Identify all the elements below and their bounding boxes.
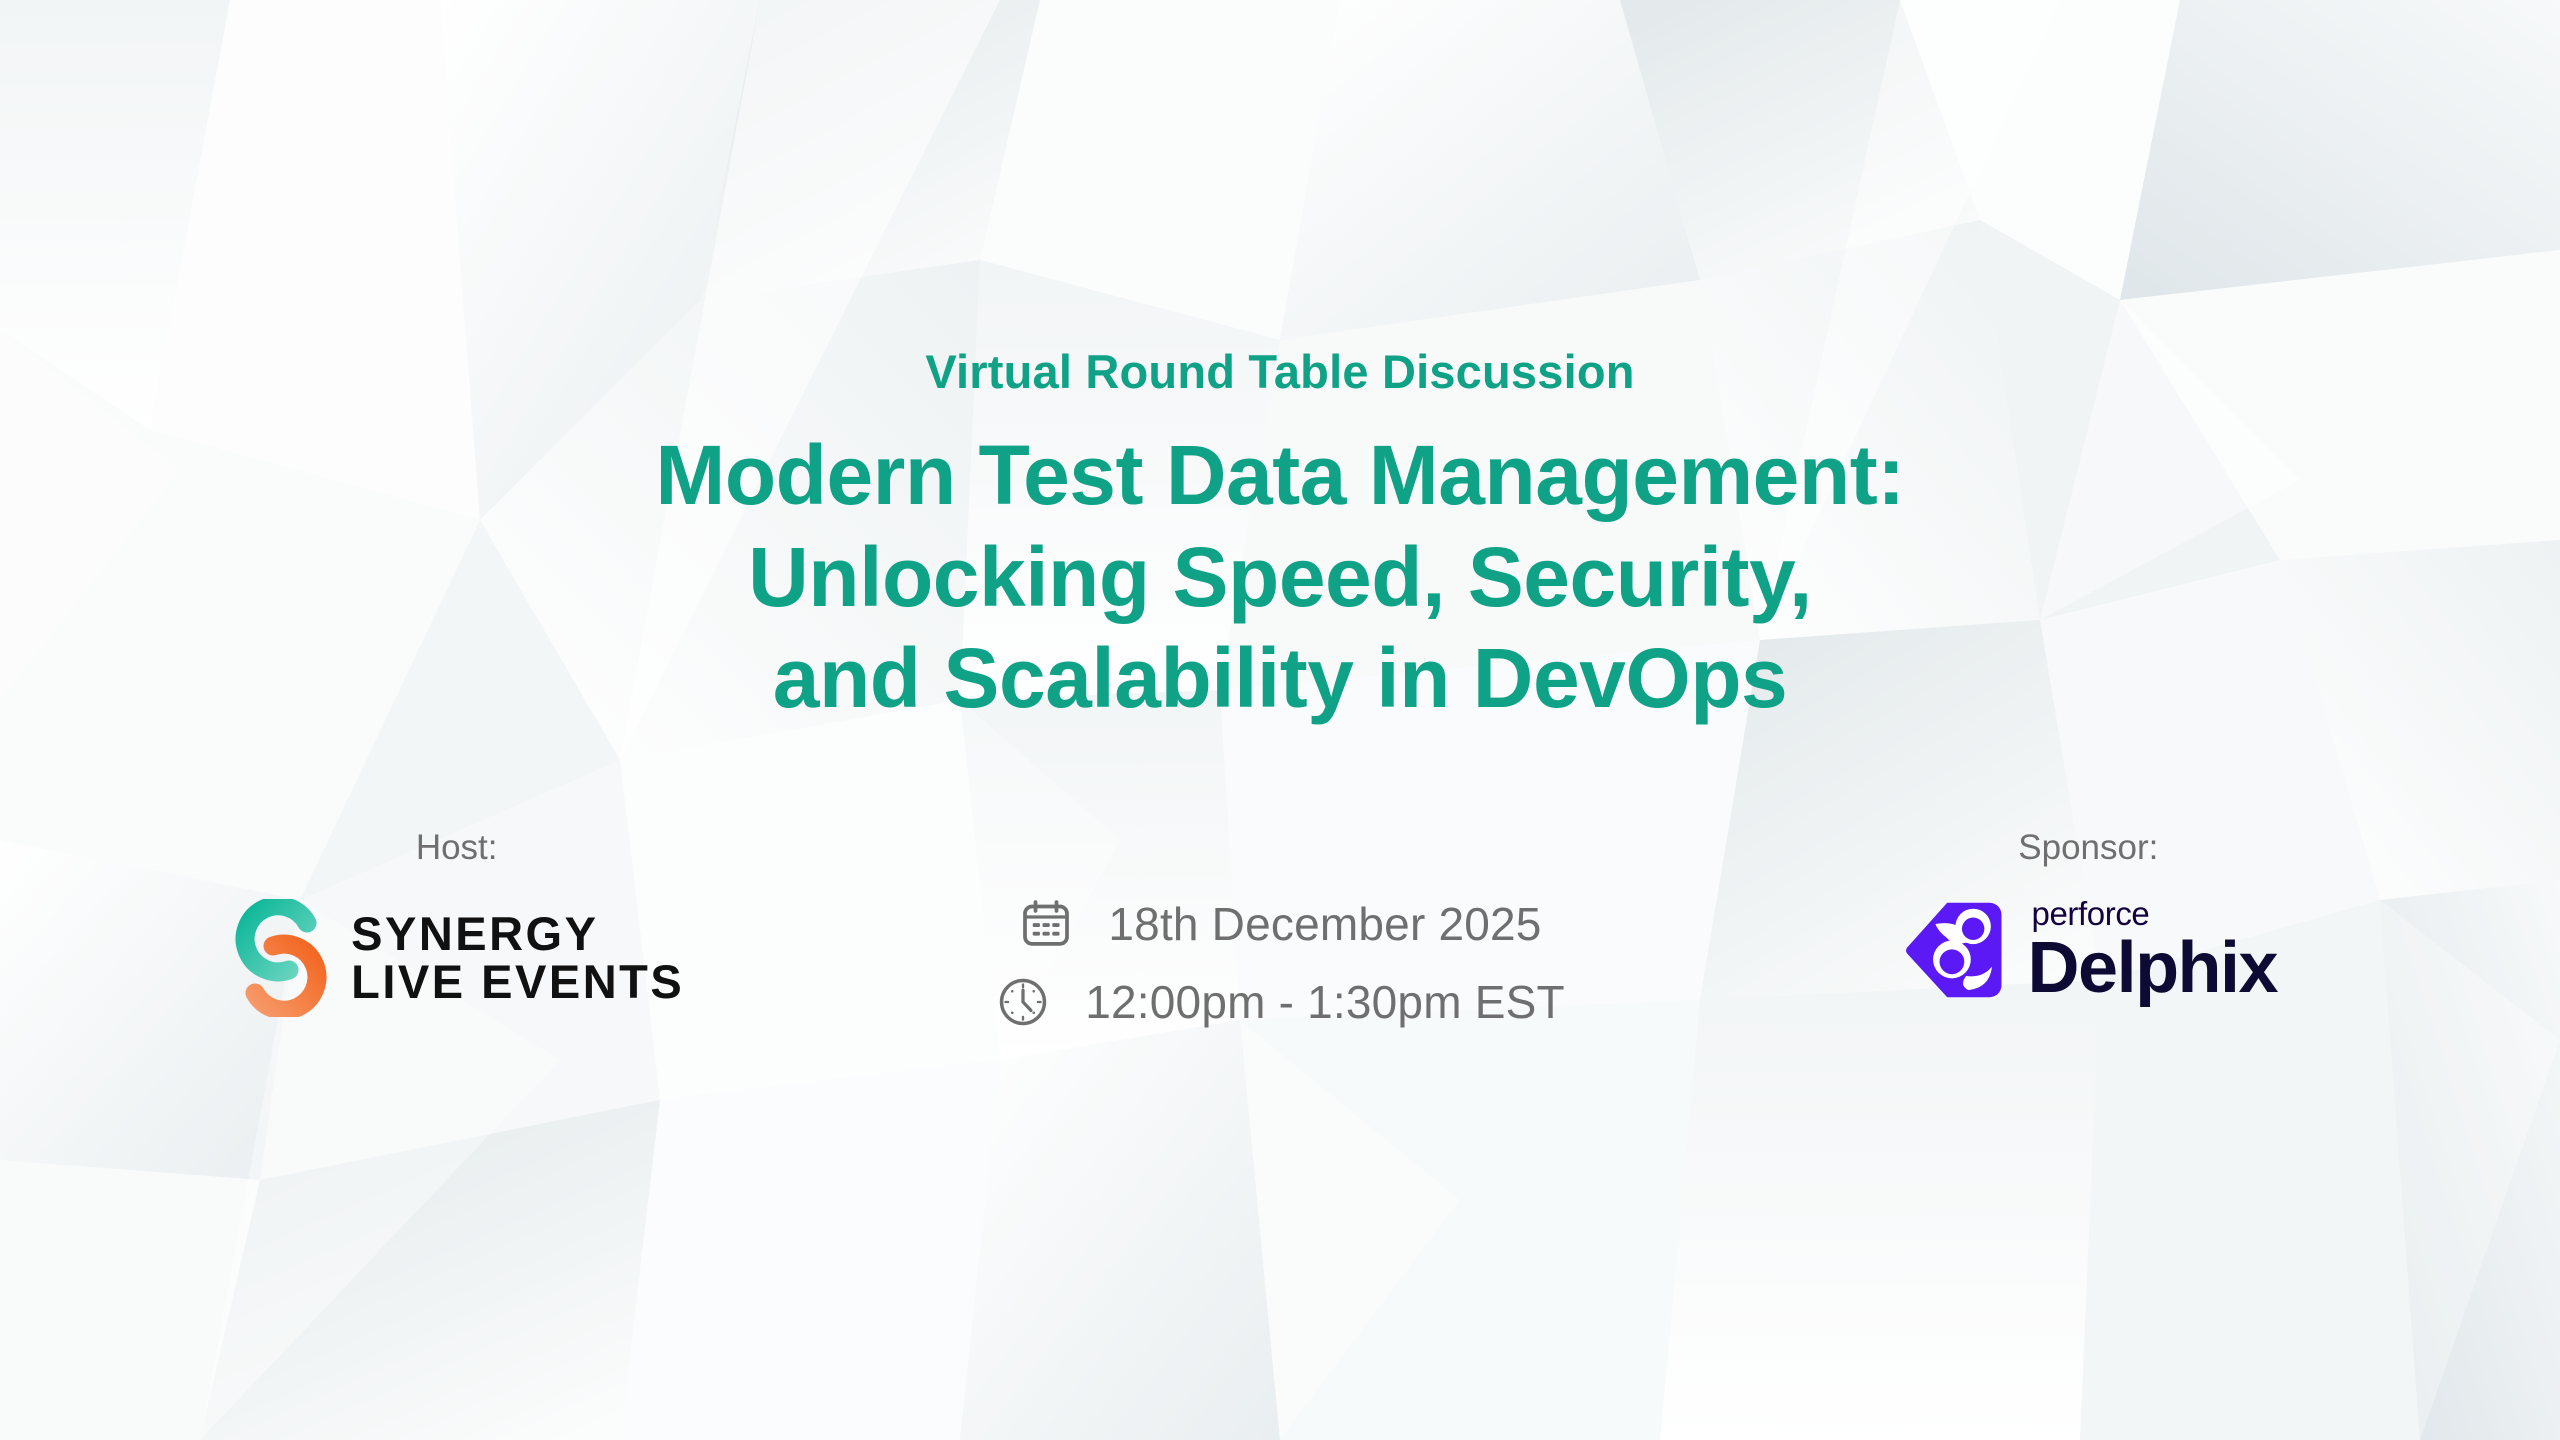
delphix-mark-icon [1900,891,2018,1009]
sponsor-section: Sponsor: [1707,830,2560,1009]
page-title: Modern Test Data Management: Unlocking S… [655,425,1904,730]
synergy-wordmark-line-2: LIVE EVENTS [351,958,684,1006]
delphix-product-wordmark: Delphix [2028,934,2278,1002]
banner-content: Virtual Round Table Discussion Modern Te… [0,0,2560,1440]
event-banner: Virtual Round Table Discussion Modern Te… [0,0,2560,1440]
event-date-row: 18th December 2025 [1018,885,1541,963]
event-time-text: 12:00pm - 1:30pm EST [1085,975,1565,1029]
host-kicker: Host: [416,830,498,865]
perforce-wordmark: perforce [2032,897,2150,930]
perforce-delphix-logo: perforce Delphix [1900,891,2278,1009]
footer-row: Host: [0,830,2560,1130]
delphix-wordmark: perforce Delphix [2028,897,2278,1002]
eyebrow-label: Virtual Round Table Discussion [925,348,1634,395]
event-date-text: 18th December 2025 [1108,897,1541,951]
synergy-s-mark [229,899,333,1017]
event-details-section: 18th December 2025 [853,830,1706,1041]
headline-line-2: Unlocking Speed, Security, [655,527,1904,629]
synergy-wordmark: SYNERGY LIVE EVENTS [351,910,684,1006]
synergy-wordmark-line-1: SYNERGY [351,910,684,958]
calendar-icon [1018,896,1074,952]
sponsor-kicker: Sponsor: [2018,830,2158,865]
headline-line-1: Modern Test Data Management: [655,425,1904,527]
host-section: Host: [0,830,853,1017]
headline-line-3: and Scalability in DevOps [655,628,1904,730]
synergy-live-events-logo: SYNERGY LIVE EVENTS [229,899,684,1017]
clock-icon [995,974,1051,1030]
event-time-row: 12:00pm - 1:30pm EST [995,963,1565,1041]
